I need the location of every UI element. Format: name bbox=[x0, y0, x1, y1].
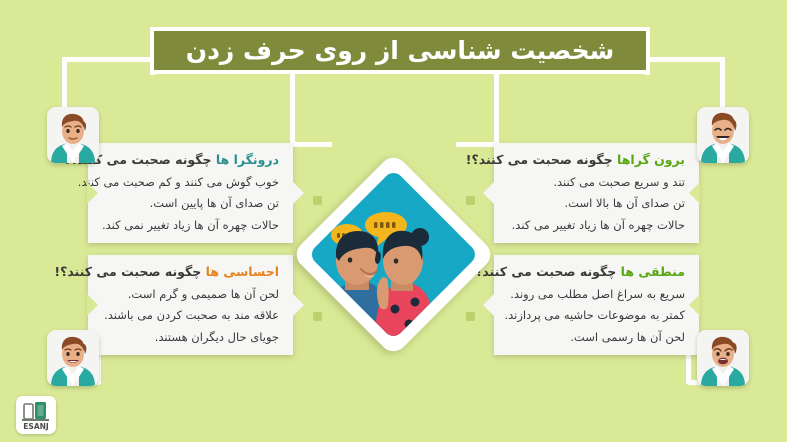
diamond-image-clip bbox=[308, 169, 479, 340]
diamond-corner-bottom-right bbox=[466, 312, 475, 321]
card-notch-logical bbox=[483, 293, 495, 317]
card-heading-extrovert: برون گراها چگونه صحبت می کنند؟! bbox=[508, 152, 685, 168]
page-title-bar: شخصیت شناسی از روی حرف زدن bbox=[154, 31, 646, 70]
avatar-bottom-right bbox=[697, 330, 749, 386]
connector-center-left-horizontal bbox=[290, 142, 332, 147]
card-heading-rest-extrovert: چگونه صحبت می کنند؟! bbox=[466, 152, 617, 167]
two-people-talking-icon bbox=[333, 194, 454, 315]
card-line-introvert-1: خوب گوش می کنند و کم صحبت می کنند. bbox=[102, 175, 279, 191]
card-heading-logical: منطقی ها چگونه صحبت می کنند؟! bbox=[508, 264, 685, 280]
card-notch-introvert bbox=[292, 181, 304, 205]
card-line-logical-3: لحن آن ها رسمی است. bbox=[508, 330, 685, 346]
connector-center-left-drop bbox=[290, 74, 295, 146]
card-line-emotional-2: علاقه مند به صحبت کردن می باشند. bbox=[102, 308, 279, 324]
card-line-emotional-3: جویای حال دیگران هستند. bbox=[102, 330, 279, 346]
card-line-extrovert-3: حالات چهره آن ها زیاد تغییر می کند. bbox=[508, 218, 685, 234]
connector-center-right-horizontal bbox=[456, 142, 499, 147]
card-heading-introvert: درونگرا ها چگونه صحبت می کنند؟! bbox=[102, 152, 279, 168]
card-line-logical-2: کمتر به موضوعات حاشیه می پردازند. bbox=[508, 308, 685, 324]
card-extrovert: برون گراها چگونه صحبت می کنند؟! تند و سر… bbox=[494, 143, 699, 243]
card-notch-emotional bbox=[292, 293, 304, 317]
card-heading-highlight-emotional: احساسی ها bbox=[206, 264, 279, 279]
card-notch-extrovert bbox=[483, 181, 495, 205]
esanj-logo[interactable]: ESANJ bbox=[16, 396, 56, 434]
card-heading-emotional: احساسی ها چگونه صحبت می کنند؟! bbox=[102, 264, 279, 280]
connector-left-top-horizontal bbox=[62, 57, 154, 62]
connector-center-right-drop bbox=[494, 74, 499, 146]
page-title-text: شخصیت شناسی از روی حرف زدن bbox=[186, 38, 614, 63]
card-heading-rest-emotional: چگونه صحبت می کنند؟! bbox=[54, 264, 205, 279]
card-heading-highlight-logical: منطقی ها bbox=[621, 264, 685, 279]
card-line-emotional-1: لحن آن ها صمیمی و گرم است. bbox=[102, 287, 279, 303]
page-title: شخصیت شناسی از روی حرف زدن bbox=[150, 27, 650, 74]
infographic-canvas: شخصیت شناسی از روی حرف زدن درونگرا ها چگ… bbox=[0, 0, 787, 442]
avatar-top-left bbox=[47, 107, 99, 163]
card-heading-highlight-extrovert: برون گراها bbox=[617, 152, 685, 167]
diamond-corner-top-right bbox=[466, 196, 475, 205]
card-line-extrovert-1: تند و سریع صحبت می کنند. bbox=[508, 175, 685, 191]
card-line-introvert-3: حالات چهره آن ها زیاد تغییر نمی کند. bbox=[102, 218, 279, 234]
card-line-introvert-2: تن صدای آن ها پایین است. bbox=[102, 196, 279, 212]
card-emotional: احساسی ها چگونه صحبت می کنند؟! لحن آن ها… bbox=[88, 255, 293, 355]
avatar-top-right bbox=[697, 107, 749, 163]
card-cut-introvert bbox=[87, 182, 98, 204]
card-cut-logical bbox=[689, 294, 700, 316]
card-heading-highlight-introvert: درونگرا ها bbox=[216, 152, 279, 167]
card-heading-rest-logical: چگونه صحبت می کنند؟! bbox=[469, 264, 620, 279]
esanj-logo-text: ESANJ bbox=[23, 422, 49, 431]
card-cut-emotional bbox=[87, 294, 98, 316]
avatar-bottom-left bbox=[47, 330, 99, 386]
card-line-extrovert-2: تن صدای آن ها بالا است. bbox=[508, 196, 685, 212]
connector-right-top-horizontal bbox=[646, 57, 725, 62]
center-illustration bbox=[321, 182, 466, 327]
card-introvert: درونگرا ها چگونه صحبت می کنند؟! خوب گوش … bbox=[88, 143, 293, 243]
card-logical: منطقی ها چگونه صحبت می کنند؟! سریع به سر… bbox=[494, 255, 699, 355]
card-line-logical-1: سریع به سراغ اصل مطلب می روند. bbox=[508, 287, 685, 303]
card-cut-extrovert bbox=[689, 182, 700, 204]
